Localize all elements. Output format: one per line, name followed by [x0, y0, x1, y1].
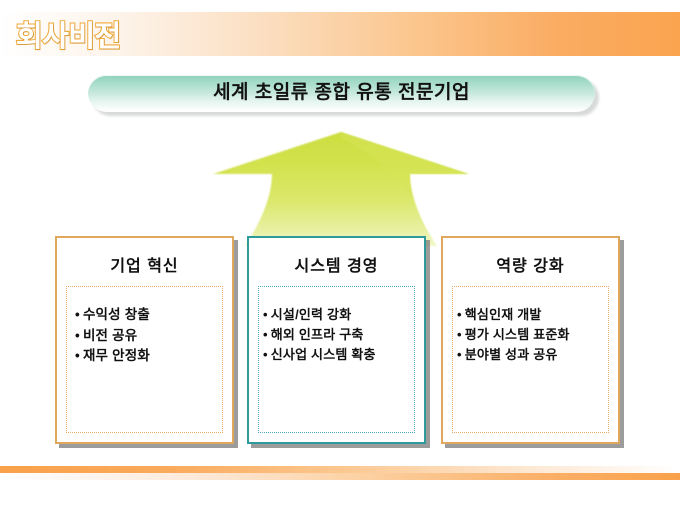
- list-item: •분야별 성과 공유: [457, 345, 608, 365]
- list-item-label: 분야별 성과 공유: [465, 347, 558, 362]
- strategy-box-inner-panel: •핵심인재 개발 •평가 시스템 표준화 •분야별 성과 공유: [452, 286, 609, 433]
- strategy-box-inner-panel: •수익성 창출 •비전 공유 •재무 안정화: [66, 286, 223, 433]
- list-item-label: 해외 인프라 구축: [271, 327, 364, 342]
- upward-arrow-icon: [205, 130, 477, 252]
- list-item-label: 핵심인재 개발: [465, 307, 542, 322]
- strategy-box-system-management[interactable]: 시스템 경영 •시설/인력 강화 •해외 인프라 구축 •신사업 시스템 확충: [247, 236, 426, 444]
- strategy-box-capability-strengthening[interactable]: 역량 강화 •핵심인재 개발 •평가 시스템 표준화 •분야별 성과 공유: [441, 236, 620, 444]
- bullet-icon: •: [457, 347, 462, 362]
- list-item-label: 시설/인력 강화: [271, 307, 352, 322]
- bullet-icon: •: [263, 327, 268, 342]
- strategy-box-title: 시스템 경영: [249, 252, 424, 276]
- strategy-box-title: 역량 강화: [443, 252, 618, 276]
- list-item: •비전 공유: [75, 326, 222, 347]
- footer-bar-right: [0, 473, 680, 480]
- list-item: •신사업 시스템 확충: [263, 345, 414, 365]
- list-item: •시설/인력 강화: [263, 305, 414, 325]
- list-item: •수익성 창출: [75, 305, 222, 326]
- list-item-label: 재무 안정화: [83, 348, 150, 363]
- strategy-bullet-list: •수익성 창출 •비전 공유 •재무 안정화: [67, 287, 222, 367]
- list-item: •핵심인재 개발: [457, 305, 608, 325]
- list-item-label: 수익성 창출: [83, 307, 150, 322]
- list-item: •해외 인프라 구축: [263, 325, 414, 345]
- strategy-box-corporate-innovation[interactable]: 기업 혁신 •수익성 창출 •비전 공유 •재무 안정화: [55, 236, 234, 444]
- page-title: 회사비전: [16, 13, 121, 55]
- slide-canvas: 회사비전 회사비전 세계 초일류 종합 유통 전문기업: [0, 0, 680, 510]
- list-item-label: 평가 시스템 표준화: [465, 327, 570, 342]
- bullet-icon: •: [75, 307, 80, 322]
- list-item-label: 신사업 시스템 확충: [271, 347, 376, 362]
- vision-banner-label: 세계 초일류 종합 유통 전문기업: [213, 83, 470, 102]
- strategy-bullet-list: •핵심인재 개발 •평가 시스템 표준화 •분야별 성과 공유: [453, 287, 608, 364]
- list-item: •재무 안정화: [75, 346, 222, 367]
- bullet-icon: •: [457, 307, 462, 322]
- list-item: •평가 시스템 표준화: [457, 325, 608, 345]
- strategy-box-title: 기업 혁신: [57, 252, 232, 276]
- list-item-label: 비전 공유: [83, 328, 137, 343]
- bullet-icon: •: [263, 347, 268, 362]
- vision-banner: 세계 초일류 종합 유통 전문기업: [88, 75, 595, 112]
- strategy-box-inner-panel: •시설/인력 강화 •해외 인프라 구축 •신사업 시스템 확충: [258, 286, 415, 433]
- bullet-icon: •: [75, 328, 80, 343]
- strategy-bullet-list: •시설/인력 강화 •해외 인프라 구축 •신사업 시스템 확충: [259, 287, 414, 364]
- bullet-icon: •: [263, 307, 268, 322]
- bullet-icon: •: [457, 327, 462, 342]
- footer-bar-left: [0, 466, 680, 473]
- bullet-icon: •: [75, 348, 80, 363]
